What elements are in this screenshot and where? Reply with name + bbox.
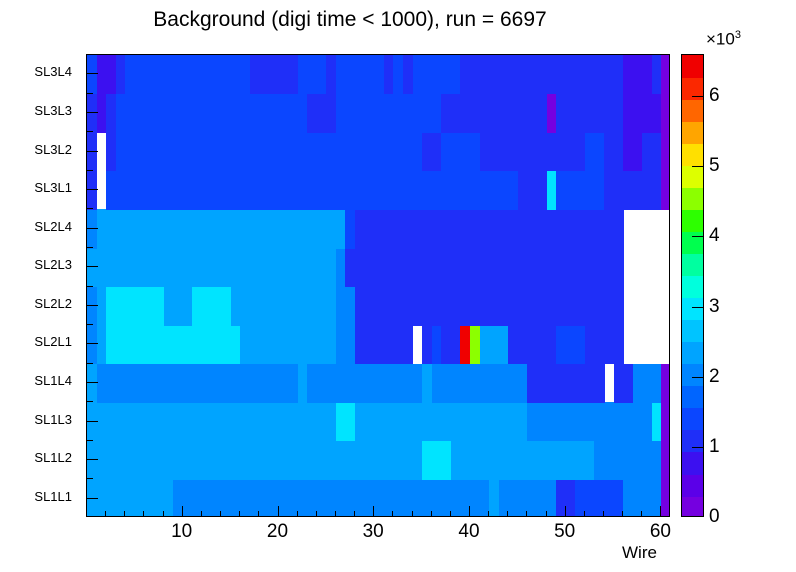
- heatmap-cell: [307, 94, 336, 133]
- heatmap-cells: [87, 55, 669, 516]
- heatmap-cell: [451, 441, 595, 480]
- heatmap-cell: [87, 402, 337, 441]
- heatmap-cell: [661, 55, 670, 94]
- y-axis-label-sl2l2: SL2L2: [0, 299, 72, 309]
- heatmap-cell: [336, 325, 356, 364]
- colorbar-band: [682, 342, 703, 365]
- heatmap-cell: [336, 402, 356, 441]
- heatmap-cell: [623, 94, 662, 133]
- colorbar-tick-label: 3: [709, 296, 720, 318]
- heatmap-cell: [125, 55, 250, 94]
- colorbar-band: [682, 209, 703, 232]
- colorbar-band: [682, 364, 703, 387]
- heatmap-cell: [527, 364, 604, 403]
- heatmap-cell: [441, 325, 461, 364]
- x-axis-title: Wire: [622, 543, 657, 563]
- heatmap-cell: [336, 287, 356, 326]
- heatmap-cell: [633, 364, 662, 403]
- heatmap-cell: [623, 132, 643, 171]
- colorbar-band: [682, 55, 703, 78]
- heatmap-cell: [623, 479, 662, 517]
- heatmap-cell: [661, 441, 670, 480]
- heatmap-cell: [585, 325, 624, 364]
- heatmap-cell: [623, 55, 652, 94]
- heatmap-cell: [106, 325, 241, 364]
- heatmap-cell: [585, 132, 605, 171]
- colorbar-band: [682, 320, 703, 343]
- colorbar-band: [682, 143, 703, 166]
- heatmap-cell: [518, 171, 547, 210]
- colorbar-tick-label: 4: [709, 225, 720, 247]
- colorbar-tick: [692, 377, 703, 378]
- heatmap-cell: [97, 209, 347, 248]
- y-axis-label-sl1l2: SL1L2: [0, 453, 72, 463]
- heatmap-cell: [508, 325, 556, 364]
- heatmap-cell: [164, 287, 193, 326]
- heatmap-cell: [556, 171, 604, 210]
- heatmap-cell: [441, 132, 480, 171]
- heatmap-cell: [87, 441, 423, 480]
- x-axis-tick-label: 50: [535, 521, 595, 543]
- heatmap-cell: [231, 287, 337, 326]
- y-axis-label-sl1l1: SL1L1: [0, 492, 72, 502]
- heatmap-cell: [480, 132, 586, 171]
- colorbar-tick: [692, 166, 703, 167]
- root-canvas: Background (digi time < 1000), run = 669…: [0, 0, 796, 572]
- heatmap-cell: [345, 248, 623, 287]
- y-axis-label-sl3l1: SL3L1: [0, 183, 72, 193]
- colorbar-band: [682, 496, 703, 517]
- heatmap-plot-area[interactable]: [86, 54, 670, 517]
- colorbar-band: [682, 253, 703, 276]
- y-axis-label-sl2l1: SL2L1: [0, 337, 72, 347]
- page-title: Background (digi time < 1000), run = 669…: [0, 8, 700, 32]
- heatmap-cell: [441, 94, 547, 133]
- heatmap-cell: [355, 402, 528, 441]
- x-axis-tick-label: 60: [630, 521, 690, 543]
- colorbar-tick-label: 5: [709, 155, 720, 177]
- y-axis-label-sl2l4: SL2L4: [0, 222, 72, 232]
- colorbar-band: [682, 430, 703, 453]
- heatmap-cell: [604, 171, 662, 210]
- y-axis-label-sl2l3: SL2L3: [0, 260, 72, 270]
- x-axis-tick-label: 40: [439, 521, 499, 543]
- colorbar-band: [682, 452, 703, 475]
- x-axis-tick-label: 30: [343, 521, 403, 543]
- heatmap-cell: [432, 364, 528, 403]
- colorbar-band: [682, 386, 703, 409]
- heatmap-cell: [355, 325, 413, 364]
- heatmap-cell: [594, 441, 662, 480]
- colorbar-tick: [692, 236, 703, 237]
- heatmap-cell: [336, 55, 384, 94]
- colorbar-band: [682, 474, 703, 497]
- heatmap-cell: [116, 94, 308, 133]
- heatmap-cell: [355, 209, 624, 248]
- colorbar-band: [682, 187, 703, 210]
- heatmap-cell: [116, 132, 423, 171]
- colorbar-tick-label: 0: [709, 506, 720, 528]
- heatmap-cell: [87, 171, 97, 210]
- colorbar-band: [682, 231, 703, 254]
- heatmap-cell: [575, 479, 623, 517]
- heatmap-cell: [87, 132, 97, 171]
- heatmap-cell: [97, 364, 299, 403]
- heatmap-cell: [192, 287, 231, 326]
- colorbar-tick-label: 6: [709, 85, 720, 107]
- heatmap-cell: [422, 441, 451, 480]
- heatmap-cell: [355, 287, 624, 326]
- x-axis-tick-label: 20: [248, 521, 308, 543]
- heatmap-cell: [240, 325, 336, 364]
- heatmap-cell: [661, 94, 670, 133]
- heatmap-cell: [307, 364, 422, 403]
- y-axis-label-sl3l2: SL3L2: [0, 145, 72, 155]
- colorbar-band: [682, 275, 703, 298]
- heatmap-cell: [661, 364, 670, 403]
- heatmap-cell: [106, 171, 518, 210]
- y-axis-label-sl1l4: SL1L4: [0, 376, 72, 386]
- colorbar-tick: [692, 96, 703, 97]
- heatmap-cell: [661, 402, 670, 441]
- y-axis-label-sl1l3: SL1L3: [0, 415, 72, 425]
- heatmap-cell: [614, 364, 634, 403]
- heatmap-cell: [604, 132, 624, 171]
- heatmap-cell: [422, 132, 442, 171]
- heatmap-cell: [336, 94, 442, 133]
- x-axis-tick-label: 10: [152, 521, 212, 543]
- y-axis-label-sl3l4: SL3L4: [0, 67, 72, 77]
- y-axis-label-sl3l3: SL3L3: [0, 106, 72, 116]
- heatmap-cell: [250, 55, 298, 94]
- heatmap-cell: [106, 287, 164, 326]
- colorbar-tick-label: 2: [709, 366, 720, 388]
- heatmap-cell: [661, 479, 670, 517]
- heatmap-cell: [97, 55, 117, 94]
- heatmap-cell: [642, 132, 662, 171]
- colorbar-band: [682, 298, 703, 321]
- heatmap-cell: [480, 325, 509, 364]
- colorbar-band: [682, 99, 703, 122]
- colorbar-band: [682, 121, 703, 144]
- colorbar-tick-label: 1: [709, 436, 720, 458]
- heatmap-cell: [556, 94, 624, 133]
- colorbar-band: [682, 408, 703, 431]
- heatmap-cell: [460, 55, 623, 94]
- colorbar-tick: [692, 447, 703, 448]
- colorbar-exponent-label: ×103: [706, 29, 741, 50]
- heatmap-cell: [527, 402, 652, 441]
- colorbar-band: [682, 165, 703, 188]
- heatmap-cell: [87, 479, 174, 517]
- heatmap-cell: [661, 171, 670, 210]
- heatmap-cell: [87, 248, 337, 287]
- heatmap-cell: [556, 325, 585, 364]
- colorbar-tick: [692, 307, 703, 308]
- heatmap-cell: [556, 479, 576, 517]
- heatmap-cell: [413, 55, 461, 94]
- heatmap-cell: [661, 132, 670, 171]
- heatmap-cell: [298, 55, 327, 94]
